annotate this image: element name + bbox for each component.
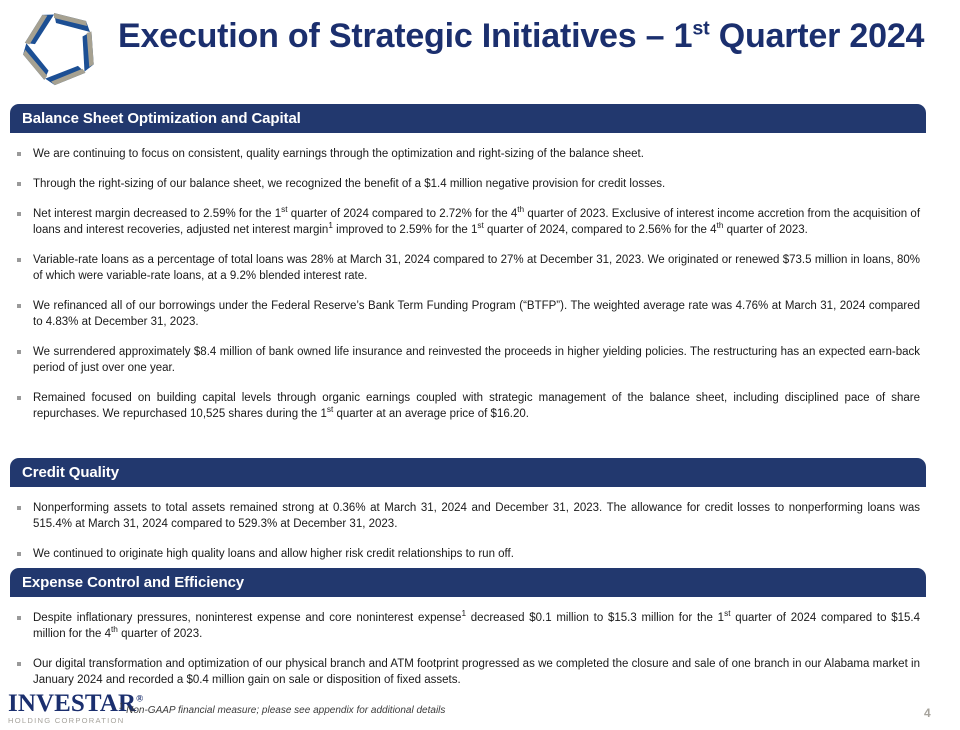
list-item-text: Our digital transformation and optimizat… [33, 658, 920, 686]
bullet-marker-icon [17, 616, 21, 620]
list-item: Nonperforming assets to total assets rem… [10, 500, 926, 532]
list-item: Remained focused on building capital lev… [10, 390, 926, 422]
footnote: 1 Non-GAAP financial measure; please see… [119, 705, 445, 716]
list-item: Net interest margin decreased to 2.59% f… [10, 206, 926, 238]
bullet-marker-icon [17, 662, 21, 666]
list-item: Our digital transformation and optimizat… [10, 656, 926, 688]
bullet-marker-icon [17, 304, 21, 308]
section-header-bar: Credit Quality [10, 458, 926, 487]
list-item-text: We refinanced all of our borrowings unde… [33, 300, 920, 328]
page-title-superscript: st [692, 18, 709, 40]
footnote-text: Non-GAAP financial measure; please see a… [123, 705, 445, 716]
registered-trademark-icon: ® [136, 695, 143, 705]
section-title: Expense Control and Efficiency [22, 574, 244, 591]
section-balance-sheet-optimization-and-capital: Balance Sheet Optimization and Capital W… [10, 104, 926, 422]
bullet-marker-icon [17, 212, 21, 216]
section-title: Balance Sheet Optimization and Capital [22, 110, 301, 127]
list-item: Despite inflationary pressures, noninter… [10, 610, 926, 642]
list-item-text: Nonperforming assets to total assets rem… [33, 502, 920, 530]
list-item: Through the right-sizing of our balance … [10, 176, 926, 192]
page-number: 4 [924, 706, 931, 720]
list-item: We surrendered approximately $8.4 millio… [10, 344, 926, 376]
bullet-list: Despite inflationary pressures, noninter… [10, 610, 926, 688]
list-item-text: We surrendered approximately $8.4 millio… [33, 346, 920, 374]
bullet-marker-icon [17, 182, 21, 186]
slide-header: Execution of Strategic Initiatives – 1st… [0, 0, 960, 95]
list-item-text: Through the right-sizing of our balance … [33, 178, 665, 190]
list-item-text: We are continuing to focus on consistent… [33, 148, 644, 160]
section-header-bar: Expense Control and Efficiency [10, 568, 926, 597]
list-item-text: Variable-rate loans as a percentage of t… [33, 254, 920, 282]
investar-wordmark-logo: INVESTAR® HOLDING CORPORATION [8, 691, 126, 725]
bullet-marker-icon [17, 350, 21, 354]
page-title-suffix: Quarter 2024 [709, 17, 924, 55]
bullet-marker-icon [17, 506, 21, 510]
bullet-marker-icon [17, 552, 21, 556]
list-item: Variable-rate loans as a percentage of t… [10, 252, 926, 284]
page-title: Execution of Strategic Initiatives – 1st… [118, 17, 924, 56]
section-header-bar: Balance Sheet Optimization and Capital [10, 104, 926, 133]
bullet-marker-icon [17, 152, 21, 156]
bullet-list: We are continuing to focus on consistent… [10, 146, 926, 422]
investar-pinwheel-logo-icon [8, 6, 112, 90]
list-item-text: Net interest margin decreased to 2.59% f… [33, 208, 920, 236]
list-item-text: Despite inflationary pressures, noninter… [33, 612, 920, 640]
slide-footer: INVESTAR® HOLDING CORPORATION 1 Non-GAAP… [0, 690, 960, 730]
list-item-text: Remained focused on building capital lev… [33, 392, 920, 420]
section-expense-control-and-efficiency: Expense Control and Efficiency Despite i… [10, 568, 926, 688]
bullet-list: Nonperforming assets to total assets rem… [10, 500, 926, 562]
list-item: We continued to originate high quality l… [10, 546, 926, 562]
page-title-prefix: Execution of Strategic Initiatives – 1 [118, 17, 692, 55]
list-item: We refinanced all of our borrowings unde… [10, 298, 926, 330]
list-item-text: We continued to originate high quality l… [33, 548, 514, 560]
bullet-marker-icon [17, 396, 21, 400]
bullet-marker-icon [17, 258, 21, 262]
list-item: We are continuing to focus on consistent… [10, 146, 926, 162]
section-credit-quality: Credit Quality Nonperforming assets to t… [10, 458, 926, 562]
brand-subtitle: HOLDING CORPORATION [8, 716, 126, 725]
section-title: Credit Quality [22, 464, 119, 481]
